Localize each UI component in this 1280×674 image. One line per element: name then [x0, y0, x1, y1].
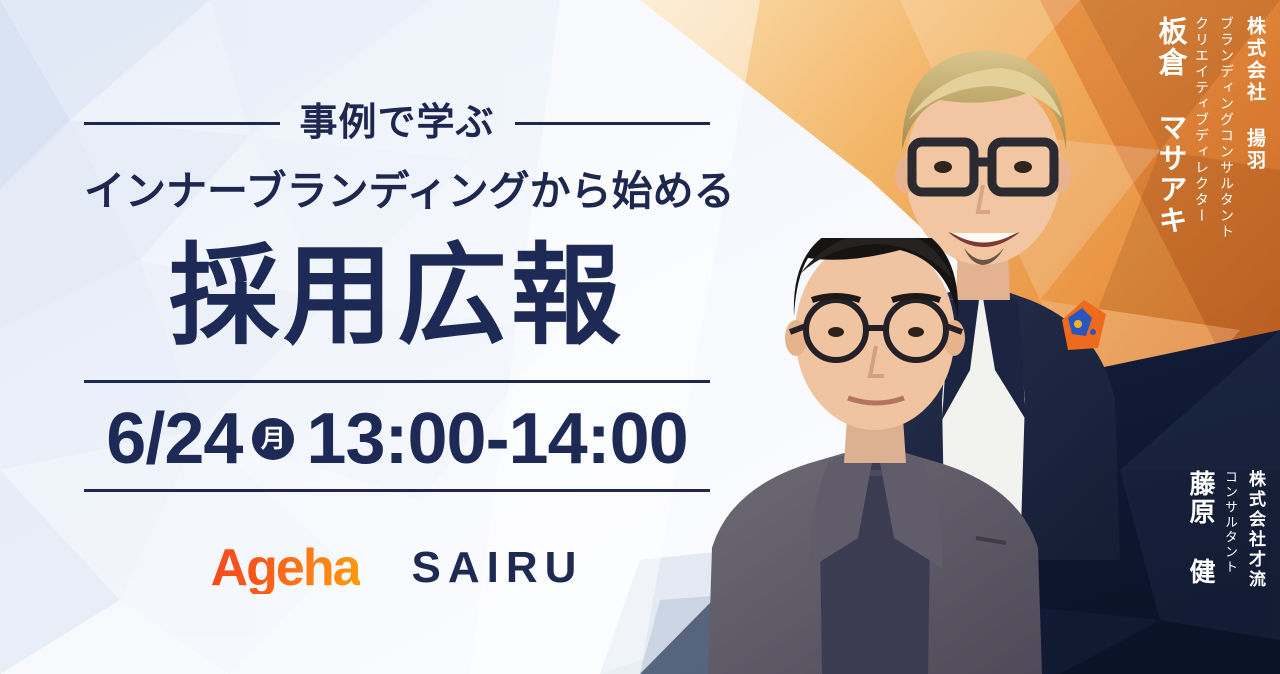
schedule-divider-top — [84, 380, 710, 383]
eyebrow-row: 事例で学ぶ — [84, 104, 710, 142]
speaker-caption-fujiwara: 藤原 健 コンサルタント 株式会社才流 — [1188, 470, 1264, 590]
eyebrow-rule-right — [515, 122, 711, 125]
event-date: 6/24 — [106, 403, 242, 475]
banner-content: 事例で学ぶ インナーブランディングから始める 採用広報 6/24 月 13:00… — [0, 0, 760, 674]
sairu-logo: SAIRU — [412, 546, 584, 590]
webinar-banner: 事例で学ぶ インナーブランディングから始める 採用広報 6/24 月 13:00… — [0, 0, 1280, 674]
banner-subtitle: インナーブランディングから始める — [84, 168, 710, 215]
speaker-name: 藤原 健 — [1188, 470, 1214, 586]
eyebrow-text: 事例で学ぶ — [300, 104, 495, 142]
speaker-company: 株式会社才流 — [1247, 470, 1264, 590]
speaker-name: 板倉 マサアキ — [1155, 16, 1184, 236]
speaker-role-line-1: ブランディングコンサルタント — [1220, 16, 1234, 240]
ageha-logo: Ageha — [211, 542, 360, 594]
speaker-role-line-2: クリエイティブディレクター — [1195, 16, 1209, 224]
logo-row: Ageha SAIRU — [84, 528, 710, 608]
speaker-company: 株式会社 揚羽 — [1245, 16, 1264, 172]
weekday-badge: 月 — [252, 418, 294, 460]
event-time: 13:00-14:00 — [306, 403, 687, 475]
speaker-role-line-1: コンサルタント — [1224, 470, 1237, 575]
eyebrow-rule-left — [84, 122, 280, 125]
speaker-caption-itakura: 板倉 マサアキ クリエイティブディレクター ブランディングコンサルタント 株式会… — [1155, 16, 1264, 240]
schedule-row: 6/24 月 13:00-14:00 — [84, 398, 710, 480]
banner-title: 採用広報 — [84, 232, 710, 362]
schedule-divider-bottom — [84, 489, 710, 492]
